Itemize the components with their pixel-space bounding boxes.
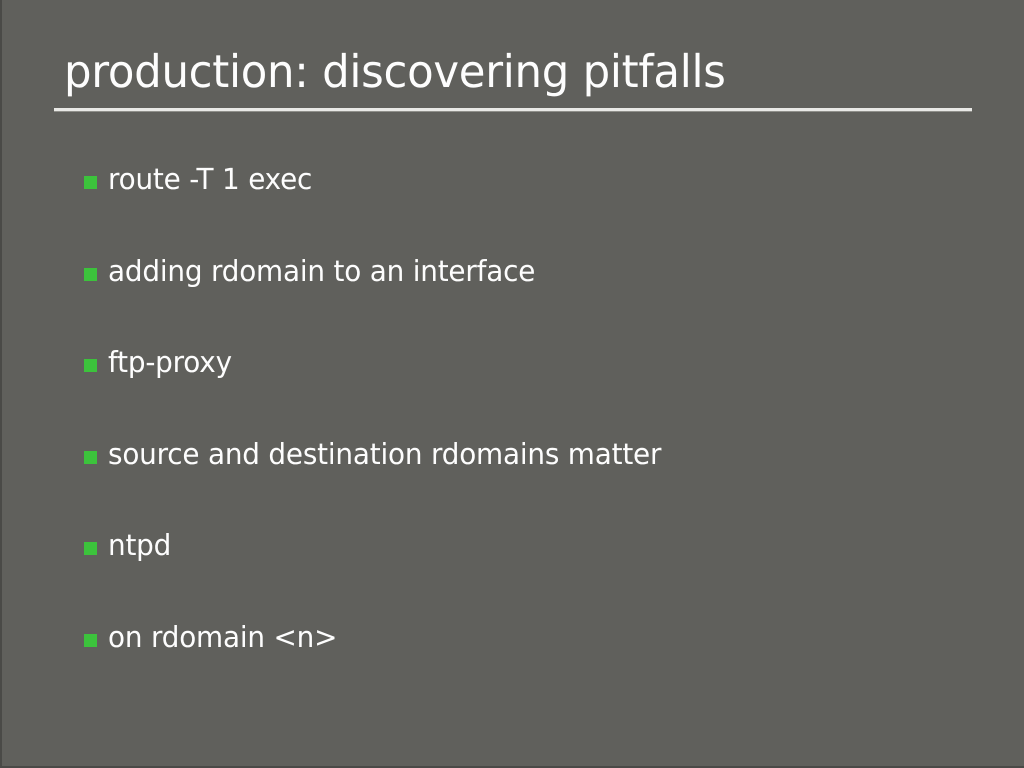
list-item: ftp-proxy: [84, 343, 984, 435]
list-item-label: adding rdomain to an interface: [108, 252, 949, 290]
list-item-label: ftp-proxy: [108, 343, 949, 381]
list-item-label: source and destination rdomains matter: [108, 435, 949, 473]
title-divider: [54, 108, 972, 112]
list-item: on rdomain <n>: [84, 618, 984, 710]
green-square-bullet-icon: [84, 451, 97, 464]
list-item-label: on rdomain <n>: [108, 618, 949, 656]
list-item: route -T 1 exec: [84, 160, 984, 252]
list-item-label: ntpd: [108, 526, 949, 564]
green-square-bullet-icon: [84, 542, 97, 555]
list-item-label: route -T 1 exec: [108, 160, 949, 198]
green-square-bullet-icon: [84, 176, 97, 189]
bullet-list: route -T 1 exec adding rdomain to an int…: [84, 160, 984, 709]
list-item: adding rdomain to an interface: [84, 252, 984, 344]
slide-title-block: production: discovering pitfalls: [54, 44, 972, 114]
green-square-bullet-icon: [84, 268, 97, 281]
page-title: production: discovering pitfalls: [64, 44, 726, 100]
green-square-bullet-icon: [84, 634, 97, 647]
presentation-slide: production: discovering pitfalls route -…: [0, 0, 1024, 768]
green-square-bullet-icon: [84, 359, 97, 372]
list-item: source and destination rdomains matter: [84, 435, 984, 527]
list-item: ntpd: [84, 526, 984, 618]
